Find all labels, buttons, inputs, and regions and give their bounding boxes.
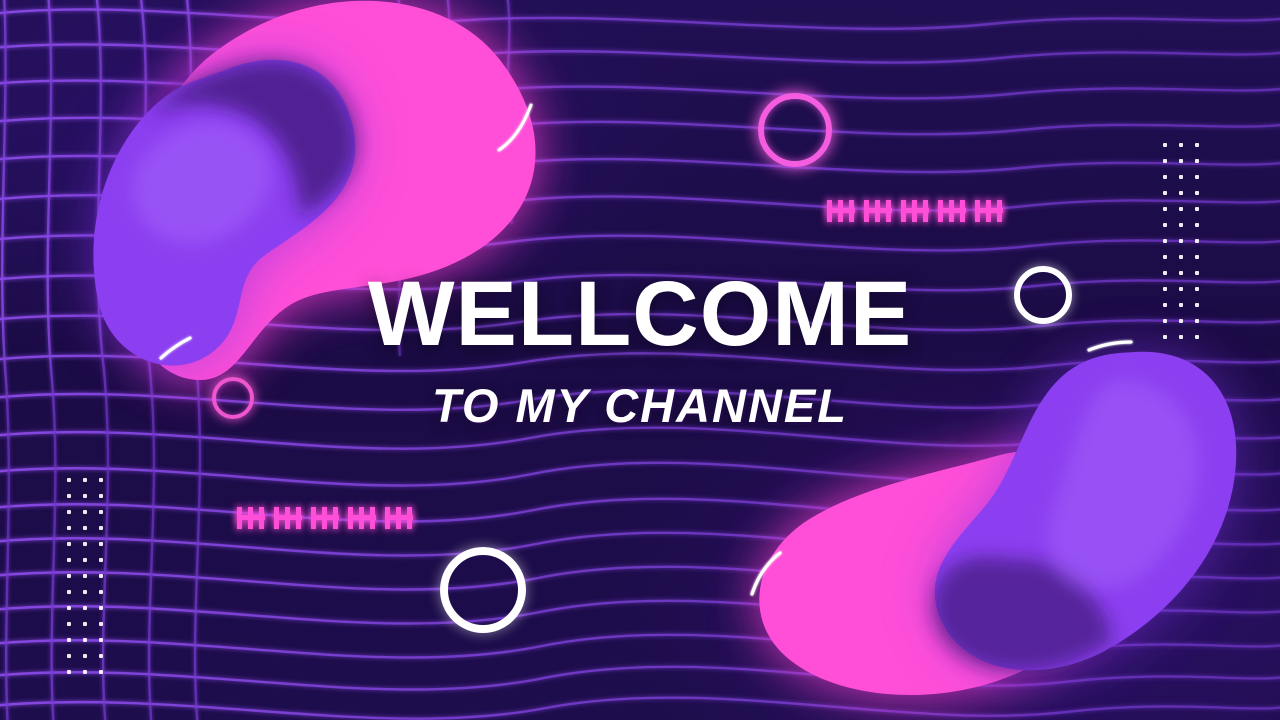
grid-dot xyxy=(67,478,71,482)
grid-dot xyxy=(67,558,71,562)
grid-dot xyxy=(1179,223,1183,227)
grid-dot xyxy=(1179,143,1183,147)
grid-dot xyxy=(83,590,87,594)
grid-dot xyxy=(1195,239,1199,243)
grid-dot xyxy=(67,494,71,498)
grid-dot xyxy=(99,494,103,498)
grid-dot xyxy=(83,670,87,674)
grid-dot xyxy=(83,558,87,562)
grid-dot xyxy=(83,638,87,642)
grid-dot xyxy=(67,622,71,626)
grid-dot xyxy=(1195,175,1199,179)
grid-dot xyxy=(67,606,71,610)
grid-dot xyxy=(67,638,71,642)
dot-grid-left xyxy=(67,478,115,686)
grid-dot xyxy=(99,526,103,530)
grid-dot xyxy=(83,542,87,546)
grid-dot xyxy=(1179,239,1183,243)
grid-dot xyxy=(99,670,103,674)
grid-dot xyxy=(67,526,71,530)
tally-group xyxy=(864,200,892,222)
grid-dot xyxy=(83,654,87,658)
grid-dot xyxy=(1195,143,1199,147)
grid-dot xyxy=(1195,159,1199,163)
tally-row-bottom-left xyxy=(237,507,413,529)
grid-dot xyxy=(67,654,71,658)
poster-canvas: WELLCOME TO MY CHANNEL xyxy=(0,0,1280,720)
grid-dot xyxy=(99,590,103,594)
grid-dot xyxy=(1179,255,1183,259)
tally-group xyxy=(237,507,265,529)
grid-dot xyxy=(1195,223,1199,227)
grid-dot xyxy=(99,558,103,562)
tally-group xyxy=(827,200,855,222)
grid-dot xyxy=(1163,191,1167,195)
grid-dot xyxy=(1179,175,1183,179)
grid-dot xyxy=(1163,239,1167,243)
grid-dot xyxy=(1179,191,1183,195)
tally-group xyxy=(348,507,376,529)
grid-dot xyxy=(1179,207,1183,211)
page-subtitle: TO MY CHANNEL xyxy=(0,382,1280,429)
grid-dot xyxy=(1163,255,1167,259)
ring-white-large xyxy=(440,547,526,633)
grid-dot xyxy=(83,478,87,482)
grid-dot xyxy=(67,510,71,514)
grid-dot xyxy=(1163,207,1167,211)
grid-dot xyxy=(99,478,103,482)
grid-dot xyxy=(67,574,71,578)
grid-dot xyxy=(99,622,103,626)
grid-dot xyxy=(1163,223,1167,227)
grid-dot xyxy=(1195,207,1199,211)
grid-dot xyxy=(1163,159,1167,163)
grid-dot xyxy=(99,542,103,546)
grid-dot xyxy=(83,526,87,530)
tally-group xyxy=(274,507,302,529)
grid-dot xyxy=(67,542,71,546)
grid-dot xyxy=(1163,143,1167,147)
page-title: WELLCOME xyxy=(0,268,1280,360)
grid-dot xyxy=(1195,191,1199,195)
grid-dot xyxy=(83,622,87,626)
grid-dot xyxy=(83,510,87,514)
ring-pink-large xyxy=(758,93,832,167)
grid-dot xyxy=(67,670,71,674)
title-block: WELLCOME TO MY CHANNEL xyxy=(0,268,1280,429)
grid-dot xyxy=(1179,159,1183,163)
tally-row-top-right xyxy=(827,200,1003,222)
grid-dot xyxy=(83,606,87,610)
grid-dot xyxy=(99,654,103,658)
grid-dot xyxy=(99,574,103,578)
tally-group xyxy=(311,507,339,529)
tally-group xyxy=(385,507,413,529)
grid-dot xyxy=(1163,175,1167,179)
grid-dot xyxy=(99,638,103,642)
grid-dot xyxy=(83,494,87,498)
tally-group xyxy=(901,200,929,222)
grid-dot xyxy=(83,574,87,578)
grid-dot xyxy=(99,510,103,514)
tally-group xyxy=(938,200,966,222)
grid-dot xyxy=(99,606,103,610)
tally-group xyxy=(975,200,1003,222)
grid-dot xyxy=(1195,255,1199,259)
grid-dot xyxy=(67,590,71,594)
